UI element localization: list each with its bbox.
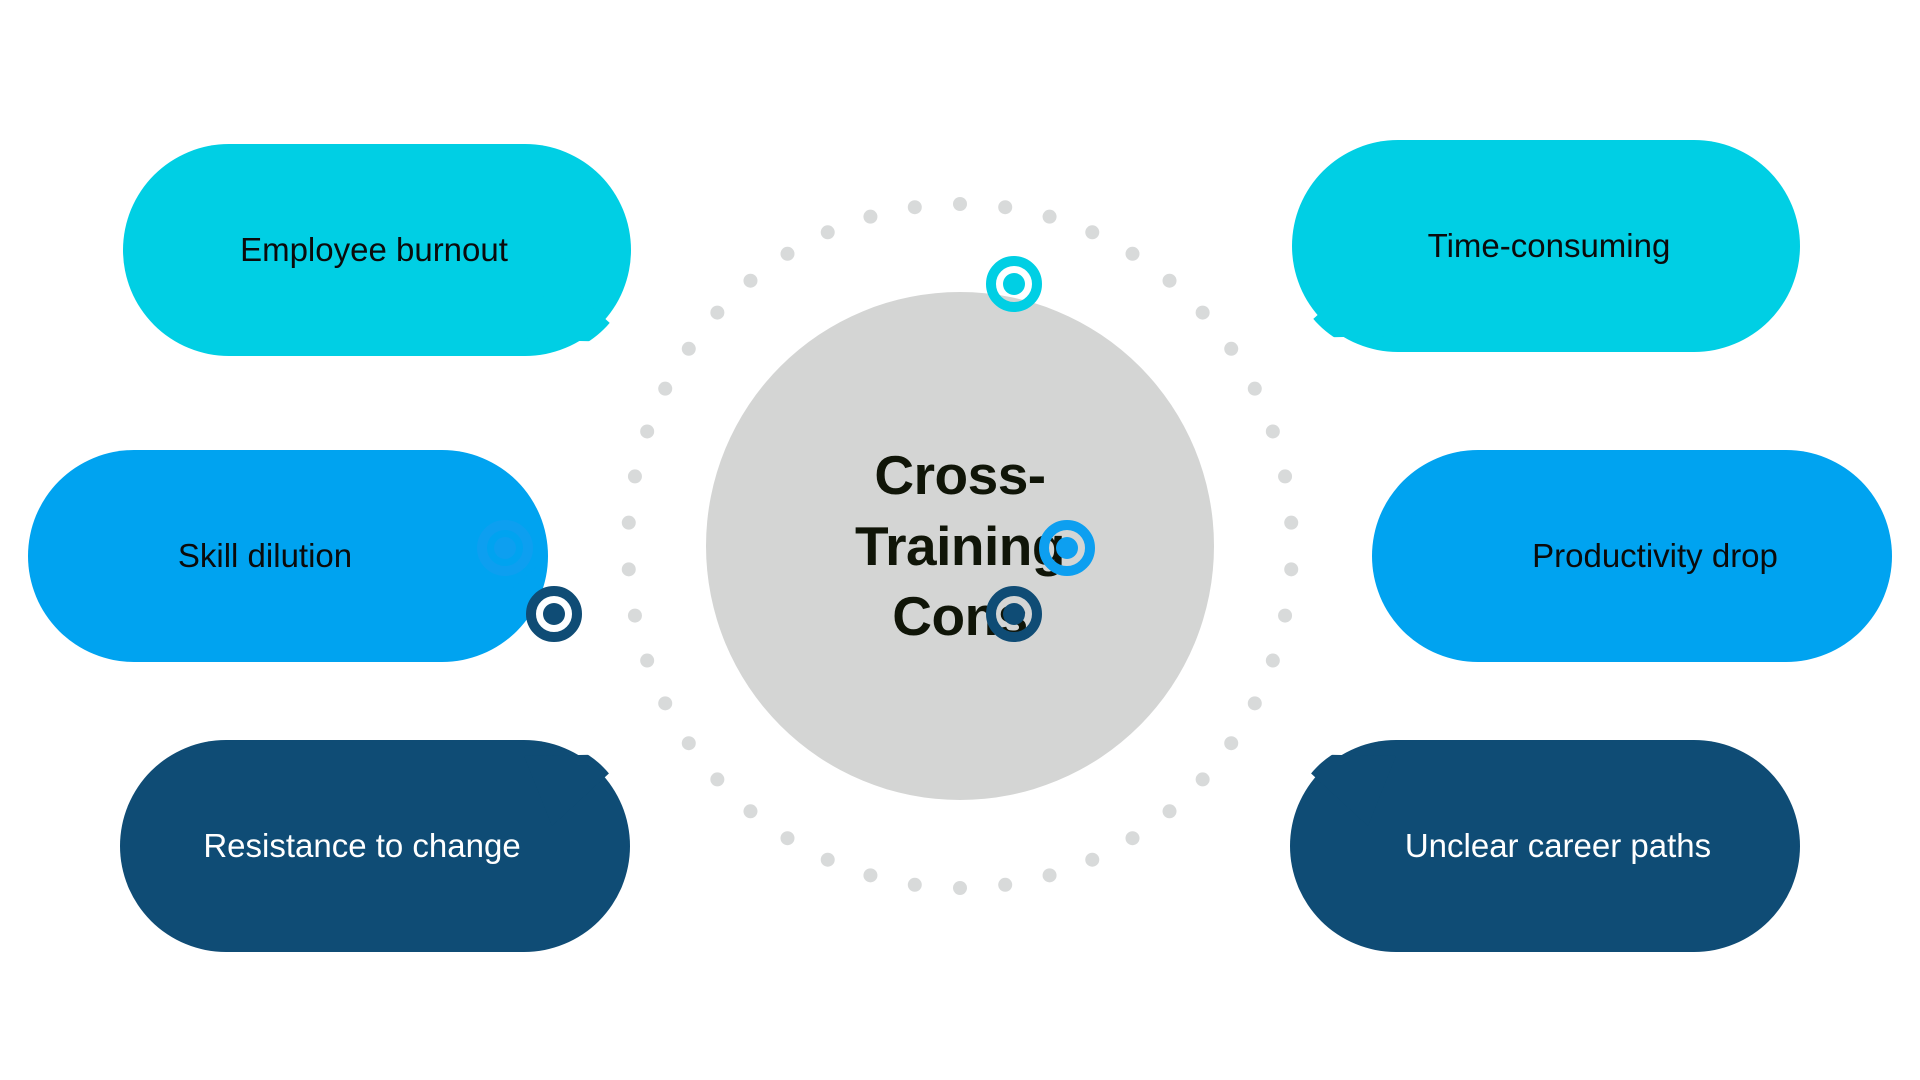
orbit-dot <box>781 831 795 845</box>
orbit-dot <box>1224 736 1238 750</box>
orbit-dot <box>908 200 922 214</box>
orbit-dot <box>1284 562 1298 576</box>
orbit-dot <box>628 609 642 623</box>
bubble-resistance-to-change[interactable]: Resistance to change <box>120 740 630 952</box>
orbit-dot <box>1196 772 1210 786</box>
center-hub-circle: Cross- Training Cons <box>706 292 1214 800</box>
orbit-dot <box>821 225 835 239</box>
orbit-dot <box>1284 516 1298 530</box>
connector-dot-productivity-drop <box>1056 537 1078 559</box>
orbit-dot <box>1248 382 1262 396</box>
bubble-unclear-career-paths[interactable]: Unclear career paths <box>1290 740 1800 952</box>
orbit-dot <box>1248 696 1262 710</box>
connector-resistance-to-change[interactable] <box>526 586 582 642</box>
connector-unclear-career-paths[interactable] <box>986 586 1042 642</box>
orbit-dot <box>1196 306 1210 320</box>
connector-dot-time-consuming <box>1003 273 1025 295</box>
connector-skill-dilution[interactable] <box>477 520 533 576</box>
orbit-dot <box>1224 342 1238 356</box>
orbit-dot <box>1043 868 1057 882</box>
connector-employee-burnout[interactable] <box>526 256 582 312</box>
orbit-dot <box>743 274 757 288</box>
orbit-dot <box>710 306 724 320</box>
orbit-dot <box>658 696 672 710</box>
orbit-dot <box>628 469 642 483</box>
bubble-label-time-consuming: Time-consuming <box>1292 226 1800 266</box>
orbit-dot <box>622 516 636 530</box>
orbit-dot <box>1163 804 1177 818</box>
orbit-dot <box>781 247 795 261</box>
bubble-time-consuming[interactable]: Time-consuming <box>1292 140 1800 352</box>
orbit-dot <box>682 342 696 356</box>
orbit-dot <box>710 772 724 786</box>
orbit-dot <box>1085 853 1099 867</box>
orbit-dot <box>743 804 757 818</box>
connector-dot-resistance-to-change <box>543 603 565 625</box>
bubble-label-resistance-to-change: Resistance to change <box>120 826 630 866</box>
bubble-employee-burnout[interactable]: Employee burnout <box>123 144 631 356</box>
orbit-dot <box>998 200 1012 214</box>
bubble-label-skill-dilution: Skill dilution <box>28 536 548 576</box>
orbit-dot <box>863 210 877 224</box>
orbit-dot <box>1266 424 1280 438</box>
orbit-dot <box>1278 469 1292 483</box>
orbit-dot <box>640 654 654 668</box>
orbit-dot <box>1126 831 1140 845</box>
orbit-dot <box>1278 609 1292 623</box>
orbit-dot <box>821 853 835 867</box>
orbit-dot <box>953 197 967 211</box>
orbit-dot <box>1163 274 1177 288</box>
bubble-label-unclear-career-paths: Unclear career paths <box>1290 826 1800 866</box>
bubble-productivity-drop[interactable]: Productivity drop <box>1372 450 1892 662</box>
orbit-dot <box>622 562 636 576</box>
diagram-canvas: Employee burnout Skill dilution Resistan… <box>0 0 1920 1080</box>
connector-dot-employee-burnout <box>543 273 565 295</box>
orbit-dot <box>998 878 1012 892</box>
orbit-dot <box>863 868 877 882</box>
connector-time-consuming[interactable] <box>986 256 1042 312</box>
bubble-skill-dilution[interactable]: Skill dilution <box>28 450 548 662</box>
orbit-dot <box>1043 210 1057 224</box>
orbit-dot <box>953 881 967 895</box>
orbit-dot <box>1085 225 1099 239</box>
orbit-dot <box>640 424 654 438</box>
bubble-label-productivity-drop: Productivity drop <box>1372 536 1892 576</box>
orbit-dot <box>1126 247 1140 261</box>
orbit-dot <box>682 736 696 750</box>
connector-dot-unclear-career-paths <box>1003 603 1025 625</box>
orbit-dot <box>658 382 672 396</box>
orbit-dot <box>1266 654 1280 668</box>
connector-dot-skill-dilution <box>494 537 516 559</box>
connector-productivity-drop[interactable] <box>1039 520 1095 576</box>
orbit-dot <box>908 878 922 892</box>
